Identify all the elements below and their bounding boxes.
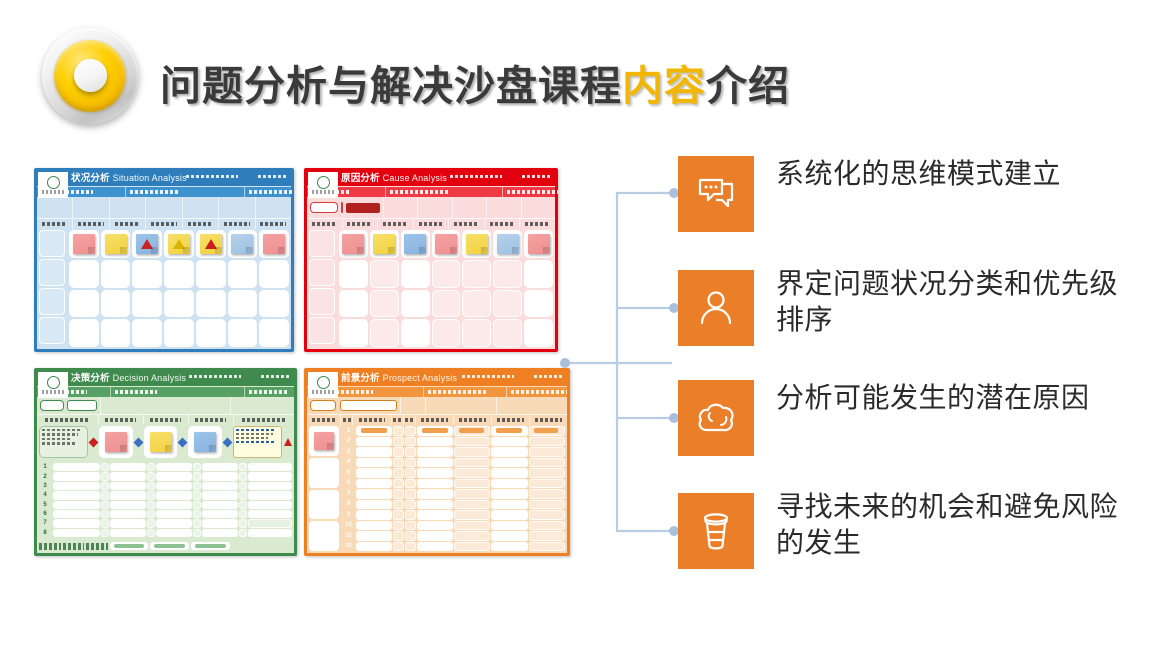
row-label (39, 317, 65, 344)
row-number: 7 (39, 519, 51, 527)
grid-cell (432, 260, 461, 288)
grid-cell (228, 260, 258, 288)
credit-line-2 (258, 175, 288, 178)
board-title-bar: 原因分析 Cause Analysis (307, 171, 555, 186)
grid-cell (339, 260, 368, 288)
grid-cell (228, 230, 258, 258)
table-row (53, 510, 292, 518)
desc-cell (453, 197, 487, 218)
grid-cell (462, 260, 491, 288)
row-number: 3 (343, 447, 354, 457)
grid-cell (432, 319, 461, 347)
board-title-bar: 前景分析 Prospect Analysis (307, 371, 567, 386)
grid-cell (259, 290, 289, 318)
board-row-labels (307, 228, 337, 349)
table-row (356, 510, 565, 520)
row-label (309, 288, 335, 315)
board-step-3[interactable] (503, 187, 558, 197)
board-step-2[interactable] (424, 387, 507, 397)
grid-cell (196, 260, 226, 288)
row-number: 5 (343, 468, 354, 478)
table-row (53, 463, 292, 471)
cup-icon (678, 493, 754, 569)
board-logo-ring (317, 176, 330, 189)
row-number: 6 (343, 479, 354, 489)
grid-cell (132, 319, 162, 347)
row-number: 4 (343, 458, 354, 468)
credit-line-1 (462, 375, 514, 378)
speech-bubble-icon (678, 156, 754, 232)
board-rows (51, 461, 294, 539)
board-title: 原因分析 Cause Analysis (341, 174, 447, 184)
grid-cell (524, 230, 553, 258)
footer-field[interactable] (150, 542, 189, 550)
slide-header: 问题分析与解决沙盘课程内容介绍 (0, 0, 1150, 150)
row-number: 9 (343, 510, 354, 520)
sticky-cell[interactable] (309, 426, 339, 456)
board-credit (462, 375, 564, 378)
board-body: 状况分析 Situation Analysis (37, 171, 291, 349)
desc-cell (183, 197, 219, 218)
desc-cell (231, 397, 294, 414)
row-number: 1 (39, 463, 51, 471)
board-title-cn: 前景分析 (341, 373, 380, 384)
board-logo-text (312, 390, 334, 394)
bullet-item-1[interactable]: 系统化的思维模式建立 (678, 156, 1061, 232)
board-title-en: Situation Analysis (113, 173, 187, 183)
grid-cell (370, 290, 399, 318)
board-logo-text (312, 190, 334, 194)
table-row (356, 500, 565, 510)
board-logo (38, 172, 68, 198)
table-row (356, 479, 565, 489)
grid-cell (493, 290, 522, 318)
sticky-cell[interactable] (309, 490, 339, 520)
board-title-cn: 决策分析 (71, 373, 110, 384)
grid-cell (493, 230, 522, 258)
grid-cell (432, 230, 461, 258)
credit-line-2 (261, 375, 291, 378)
board-credit (186, 175, 288, 178)
credit-line-1 (189, 375, 241, 378)
row-label (309, 230, 335, 257)
score-marker (224, 426, 231, 458)
board-row-labels (37, 228, 67, 349)
page-title: 问题分析与解决沙盘课程内容介绍 (160, 52, 790, 112)
row-number: 7 (343, 489, 354, 499)
table-row (356, 542, 565, 552)
board-credit (450, 175, 552, 178)
bullet-text: 系统化的思维模式建立 (776, 156, 1061, 192)
grid-cell (101, 319, 131, 347)
row-number: 6 (39, 510, 51, 518)
row-number: 2 (343, 437, 354, 447)
board-title-bar: 状况分析 Situation Analysis (37, 171, 291, 186)
bullet-item-4[interactable]: 寻找未来的机会和避免风险的发生 (678, 493, 1136, 569)
slide-canvas: 问题分析与解决沙盘课程内容介绍 状况分析 Situation Analysis (0, 0, 1150, 645)
grid-cell (69, 319, 99, 347)
board-body: 原因分析 Cause Analysis (307, 171, 555, 349)
board-step-bar (307, 387, 567, 397)
bullet-text: 界定问题状况分类和优先级排序 (776, 266, 1136, 338)
board-prospect-analysis[interactable]: 前景分析 Prospect Analysis (304, 368, 570, 556)
table-row (53, 501, 292, 509)
board-title-en: Prospect Analysis (383, 373, 457, 383)
grid-cell (164, 230, 194, 258)
step-3-text (249, 190, 293, 194)
table-row (53, 529, 292, 537)
board-title-en: Decision Analysis (113, 373, 186, 383)
grid-cell (132, 290, 162, 318)
board-cells (337, 228, 555, 349)
grid-cell (524, 319, 553, 347)
board-body: 前景分析 Prospect Analysis (307, 371, 567, 553)
grid-cell (259, 260, 289, 288)
row-number: 8 (343, 500, 354, 510)
grid-cell (69, 230, 99, 258)
board-title: 状况分析 Situation Analysis (71, 174, 187, 184)
board-step-bar (307, 187, 555, 197)
grid-cell (132, 230, 162, 258)
desc-cell (497, 397, 567, 414)
row-number-col-left: 1 2 3 4 5 6 7 8 (37, 461, 51, 539)
board-step-bar (37, 187, 291, 197)
board-title-cn: 状况分析 (71, 173, 110, 184)
board-logo (308, 172, 338, 198)
board-step-2[interactable] (386, 187, 503, 197)
grid-cell (401, 290, 430, 318)
grid-cell (432, 290, 461, 318)
board-logo (308, 372, 338, 398)
criteria-box[interactable] (39, 426, 88, 458)
table-row (356, 458, 565, 468)
board-step-3[interactable] (507, 387, 570, 397)
grid-cell (196, 290, 226, 318)
row-number: 1 (343, 426, 354, 436)
board-logo-ring (317, 376, 330, 389)
option-b-cell[interactable] (144, 426, 178, 458)
grid-cell (164, 319, 194, 347)
board-step-3[interactable] (245, 387, 297, 397)
grid-cell (228, 319, 258, 347)
bullet-item-3[interactable]: 分析可能发生的潜在原因 (678, 380, 1090, 456)
grid-cell (524, 260, 553, 288)
board-step-2[interactable] (111, 387, 245, 397)
board-cause-analysis[interactable]: 原因分析 Cause Analysis (304, 168, 558, 352)
sticky-cell[interactable] (309, 521, 339, 551)
board-step-2[interactable] (126, 187, 245, 197)
board-rows (354, 424, 567, 553)
board-logo-ring (47, 376, 60, 389)
row-number: 2 (39, 472, 51, 480)
grid-cell (101, 290, 131, 318)
desc-cell (256, 197, 291, 218)
desc-cell (146, 197, 182, 218)
board-credit (189, 375, 291, 378)
grid-cell (164, 260, 194, 288)
board-title: 决策分析 Decision Analysis (71, 374, 186, 384)
board-sticky-col (307, 424, 341, 553)
board-situation-analysis[interactable]: 状况分析 Situation Analysis (34, 168, 294, 352)
board-grid (37, 228, 291, 349)
desc-cell (307, 397, 401, 414)
grid-cell (228, 290, 258, 318)
board-description-row (307, 397, 567, 414)
grid-cell (462, 319, 491, 347)
connector-origin-dot (560, 358, 570, 368)
title-suffix: 介绍 (706, 63, 790, 109)
weight-marker (90, 426, 97, 458)
board-title-cn: 原因分析 (341, 173, 380, 184)
desc-cell (101, 397, 232, 414)
desc-cell (426, 397, 497, 414)
row-number: 3 (39, 482, 51, 490)
logo-inner-dot (74, 59, 107, 92)
row-label (309, 317, 335, 344)
risk-marker (284, 426, 292, 458)
score-marker (179, 426, 186, 458)
table-row (356, 521, 565, 531)
grid-cell (339, 319, 368, 347)
title-prefix: 问题分析与解决沙盘课程 (160, 63, 622, 109)
sticky-cell[interactable] (309, 458, 339, 488)
board-title: 前景分析 Prospect Analysis (341, 374, 457, 384)
desc-cell (219, 197, 255, 218)
option-c-cell[interactable] (188, 426, 222, 458)
grid-cell (132, 260, 162, 288)
grid-cell (259, 319, 289, 347)
desc-cell (307, 197, 384, 218)
grid-cell (493, 260, 522, 288)
option-a-cell[interactable] (99, 426, 133, 458)
grid-cell (370, 319, 399, 347)
bullet-text: 分析可能发生的潜在原因 (776, 380, 1090, 416)
desc-cell (401, 397, 425, 414)
table-row (356, 531, 565, 541)
risk-note[interactable] (233, 426, 282, 458)
board-grid (307, 228, 555, 349)
grid-cell (101, 260, 131, 288)
grid-cell (164, 290, 194, 318)
row-number: 12 (343, 542, 354, 552)
grid-cell (401, 230, 430, 258)
board-cells (67, 228, 291, 349)
board-step-bar (37, 387, 294, 397)
board-description-row (307, 197, 555, 218)
desc-cell (37, 397, 101, 414)
grid-cell (259, 230, 289, 258)
person-icon (678, 270, 754, 346)
table-row (53, 519, 292, 527)
grid-cell (401, 260, 430, 288)
row-number: 5 (39, 501, 51, 509)
row-number: 4 (39, 491, 51, 499)
grid-cell (370, 230, 399, 258)
board-logo-ring (47, 176, 60, 189)
bullet-text: 寻找未来的机会和避免风险的发生 (776, 489, 1136, 561)
table-row (356, 468, 565, 478)
credit-line-2 (534, 375, 564, 378)
board-logo-text (42, 190, 64, 194)
bullet-item-2[interactable]: 界定问题状况分类和优先级排序 (678, 270, 1136, 346)
grid-cell (101, 230, 131, 258)
row-number: 11 (343, 531, 354, 541)
board-logo-text (42, 390, 64, 394)
grid-cell (524, 290, 553, 318)
row-label (39, 230, 65, 257)
grid-cell (339, 230, 368, 258)
footer-field[interactable] (191, 542, 230, 550)
step-2-text (130, 190, 180, 194)
row-number: 10 (343, 521, 354, 531)
cloud-icon (678, 380, 754, 456)
score-marker (135, 426, 142, 458)
desc-cell (384, 197, 418, 218)
grid-cell (401, 319, 430, 347)
grid-cell (462, 230, 491, 258)
table-row (53, 472, 292, 480)
table-row (53, 482, 292, 490)
board-footer (39, 540, 292, 552)
grid-cell (196, 230, 226, 258)
row-number: 8 (39, 529, 51, 537)
footer-field[interactable] (110, 542, 149, 550)
table-row (356, 447, 565, 457)
grid-cell (69, 290, 99, 318)
board-logo (38, 372, 68, 398)
desc-cell (73, 197, 109, 218)
desc-cell (522, 197, 555, 218)
grid-cell (370, 260, 399, 288)
board-decision-analysis[interactable]: 决策分析 Decision Analysis (34, 368, 297, 556)
board-option-row (37, 424, 294, 460)
gold-ring-logo (40, 26, 146, 132)
board-body: 决策分析 Decision Analysis (37, 371, 294, 553)
grid-cell (196, 319, 226, 347)
row-label (39, 259, 65, 286)
row-number-col: 1 2 3 4 5 6 7 8 9 10 11 12 (341, 424, 354, 553)
table-row (356, 489, 565, 499)
board-grid: 1 2 3 4 5 6 7 8 9 10 11 12 (307, 424, 567, 553)
credit-line-1 (186, 175, 238, 178)
grid-cell (69, 260, 99, 288)
desc-cell (418, 197, 452, 218)
table-row (356, 426, 565, 436)
table-row (53, 491, 292, 499)
board-title-en: Cause Analysis (383, 173, 447, 183)
board-title-bar: 决策分析 Decision Analysis (37, 371, 294, 386)
desc-cell (487, 197, 521, 218)
desc-cell (110, 197, 146, 218)
desc-cell (37, 197, 73, 218)
row-label (309, 259, 335, 286)
grid-cell (339, 290, 368, 318)
credit-line-1 (450, 175, 502, 178)
grid-cell (462, 290, 491, 318)
board-description-row (37, 197, 291, 218)
board-step-3[interactable] (245, 187, 294, 197)
row-label (39, 288, 65, 315)
board-description-row (37, 397, 294, 414)
grid-cell (493, 319, 522, 347)
credit-line-2 (522, 175, 552, 178)
board-grid: 1 2 3 4 5 6 7 8 (37, 461, 294, 539)
title-highlight: 内容 (622, 63, 706, 109)
table-row (356, 437, 565, 447)
